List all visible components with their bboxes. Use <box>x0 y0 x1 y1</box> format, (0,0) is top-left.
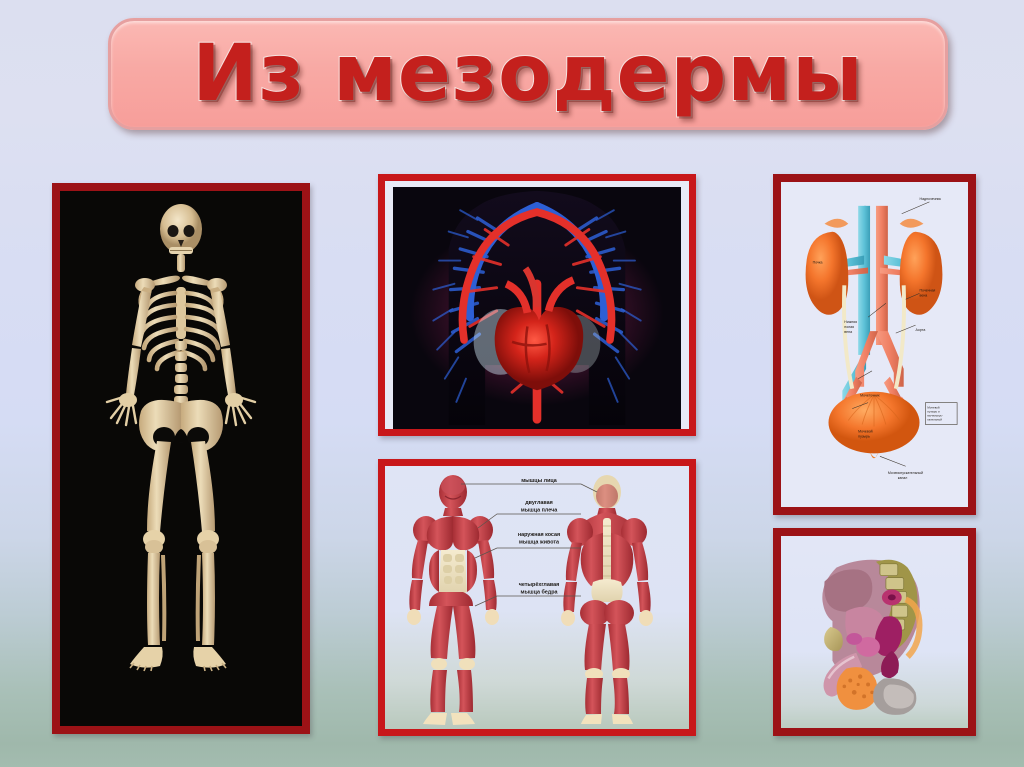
urinary-label-adrenal: Надпочечник <box>920 197 942 201</box>
muscle-label-1: двуглавая <box>525 500 553 506</box>
muscle-label-1b: мышца плеча <box>521 508 559 514</box>
muscle-label-0: мышцы лица <box>521 478 558 484</box>
image-frame-muscular[interactable]: Мышцы человека, вид спереди и сзади <box>378 459 696 736</box>
muscular-illustration: мышцы лица двуглавая мышца плеча наружна… <box>385 466 689 729</box>
image-frame-skeleton[interactable]: Скелет человека <box>52 183 310 734</box>
circulatory-image: Сердце и кровеносные сосуды <box>385 181 689 429</box>
image-frame-circulatory[interactable]: Сердце и кровеносные сосуды <box>378 174 696 436</box>
urinary-image: Почки, мочеточники и мочевой пузырь <box>781 182 968 507</box>
page-title: Из мезодермы <box>192 35 863 113</box>
reproductive-image: Сагиттальный разрез таза <box>781 536 968 728</box>
muscle-label-3: четырёхглавая <box>519 582 560 588</box>
svg-text:вена: вена <box>844 330 852 334</box>
circulatory-illustration <box>393 187 681 429</box>
urinary-label-bladder: Мочевой <box>858 429 872 433</box>
svg-text:кательный: кательный <box>927 418 942 422</box>
muscle-label-3b: мышца бедра <box>520 589 558 596</box>
urinary-label-vena: Нижняя <box>844 320 857 324</box>
urinary-label-aorta: Аорта <box>916 328 926 332</box>
urinary-illustration: Мочевой пузырь и мочеиспус- кательный <box>781 182 968 507</box>
urinary-label-kidney: Почка <box>813 260 823 264</box>
urinary-label-urethra: Мочеиспускательный <box>888 471 923 475</box>
svg-text:вена: вена <box>920 293 928 297</box>
muscular-image: Мышцы человека, вид спереди и сзади <box>385 466 689 729</box>
svg-text:пузырь: пузырь <box>858 434 870 438</box>
muscle-label-2b: мышца живота <box>519 540 560 546</box>
svg-text:канал: канал <box>898 476 908 480</box>
urinary-label-renal-vein: Почечная <box>920 288 936 292</box>
slide-canvas: Из мезодермы Скелет человека <box>0 0 1024 767</box>
image-frame-urinary[interactable]: Почки, мочеточники и мочевой пузырь <box>773 174 976 515</box>
slide-title-box: Из мезодермы <box>108 18 948 130</box>
urinary-label-ureter: Мочеточник <box>860 394 880 398</box>
muscle-label-2: наружная косая <box>518 532 560 538</box>
skeleton-illustration <box>60 191 302 726</box>
svg-text:полая: полая <box>844 325 854 329</box>
reproductive-illustration <box>781 536 968 728</box>
image-frame-reproductive[interactable]: Сагиттальный разрез таза <box>773 528 976 736</box>
skeleton-image: Скелет человека <box>60 191 302 726</box>
